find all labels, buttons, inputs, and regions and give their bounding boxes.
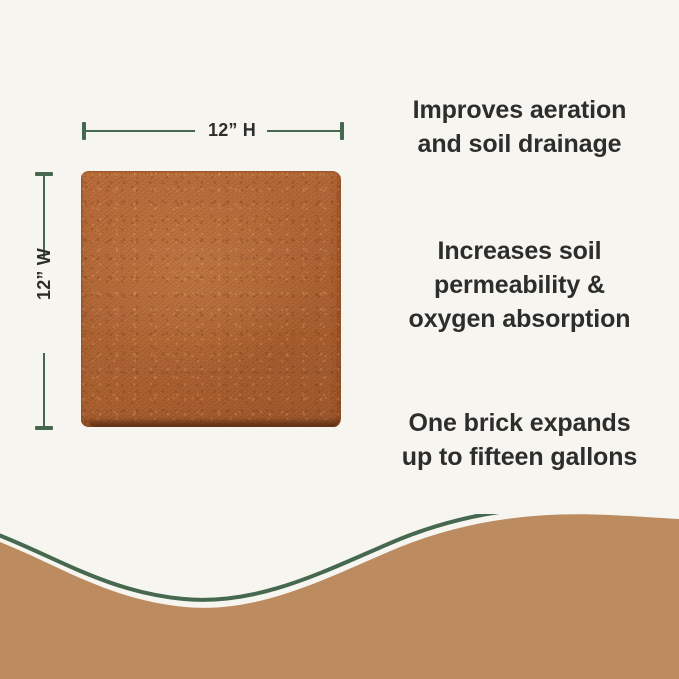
infographic-canvas: 12” H 12” W Improves aerationand soil dr… xyxy=(0,0,679,679)
benefit-item-aeration: Improves aerationand soil drainage xyxy=(360,93,679,161)
dimension-cap-right-icon xyxy=(340,122,344,140)
dimension-line-left-icon xyxy=(85,130,195,132)
dimension-line-bottom-icon xyxy=(43,353,45,427)
dimension-line-right-icon xyxy=(267,130,341,132)
benefits-list: Improves aerationand soil drainage Incre… xyxy=(360,0,679,520)
dimension-cap-bottom-icon xyxy=(35,426,53,430)
dimension-vertical: 12” W xyxy=(33,172,55,430)
dimension-horizontal-label: 12” H xyxy=(195,117,269,143)
soil-fill-shape xyxy=(0,514,679,679)
dimension-horizontal: 12” H xyxy=(82,120,344,142)
benefit-item-expansion: One brick expandsup to fifteen gallons xyxy=(360,406,679,474)
soil-wave-divider xyxy=(0,514,679,679)
dimension-vertical-label: 12” W xyxy=(33,232,55,316)
brick-body xyxy=(81,171,341,427)
brick-base-shadow xyxy=(89,418,339,427)
product-image-coir-brick xyxy=(78,168,344,430)
brick-rough-edge xyxy=(81,171,341,427)
benefit-item-permeability: Increases soilpermeability &oxygen absor… xyxy=(360,234,679,336)
